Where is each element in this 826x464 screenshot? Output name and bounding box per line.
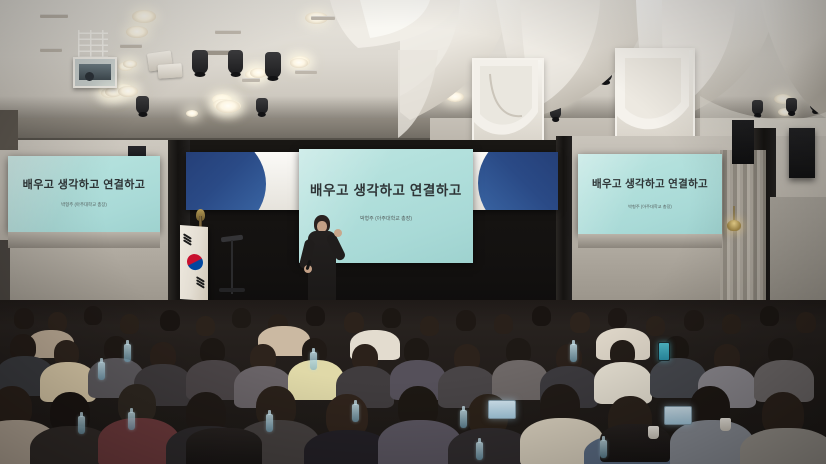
slide-title-right: 배우고 생각하고 연결하고 <box>578 176 722 191</box>
ceiling-vent <box>120 44 142 48</box>
audience-head <box>84 306 102 325</box>
round-banquet-table <box>186 428 262 464</box>
audience-head <box>760 306 779 326</box>
audience-head <box>684 310 704 331</box>
chandelier-lamp <box>727 220 741 231</box>
audience-head <box>344 312 364 333</box>
recessed-downlight <box>216 100 240 113</box>
water-bottle <box>476 442 483 460</box>
audience-head <box>646 316 665 336</box>
screen-skirt-left <box>8 232 160 248</box>
audience-head <box>796 312 816 333</box>
audience-head <box>532 306 551 326</box>
audience-head <box>306 306 325 326</box>
taeguk-circle <box>187 254 203 271</box>
audience-head <box>382 308 401 328</box>
water-bottle <box>352 404 359 422</box>
paper-cup <box>648 426 659 439</box>
slide-subtitle-left: 박형주 (아주대학교 총장) <box>8 202 160 208</box>
hanging-fabric-panel <box>615 48 695 144</box>
black-track-spotlight <box>265 52 281 78</box>
open-laptop <box>664 406 692 425</box>
audience-head <box>608 308 627 328</box>
conference-photo: 2019년 권 크숍 일자 : 2019년 7월 호텔 배우고 생각하고 연결하… <box>0 0 826 464</box>
ceiling-soffit <box>0 118 430 140</box>
recessed-downlight <box>118 86 138 97</box>
screen-skirt-right <box>578 234 722 248</box>
audience-head <box>570 312 590 333</box>
presenter-right-hand <box>334 229 342 237</box>
water-bottle <box>98 362 105 380</box>
projection-screen-right: 배우고 생각하고 연결하고 박형주 (아주대학교 총장) <box>578 154 722 234</box>
slide-subtitle-right: 박형주 (아주대학교 총장) <box>578 204 722 210</box>
recessed-downlight <box>186 110 198 117</box>
audience-head <box>456 310 476 331</box>
round-banquet-table <box>600 424 670 462</box>
recessed-downlight <box>132 10 156 23</box>
audience-head <box>14 308 34 329</box>
ceiling-vent <box>295 70 317 74</box>
pa-speaker-box <box>789 128 815 178</box>
audience-head <box>160 310 180 331</box>
music-stand-base <box>219 288 245 292</box>
music-stand-pole <box>231 240 233 294</box>
water-bottle <box>600 440 607 458</box>
ceiling-vent <box>40 48 62 52</box>
open-laptop <box>488 400 516 419</box>
black-track-spotlight <box>136 96 149 114</box>
audience-shoulders <box>740 428 826 464</box>
water-bottle <box>78 416 85 434</box>
audience-head <box>232 308 251 328</box>
pa-speaker-box <box>732 120 754 164</box>
wall-column <box>0 110 18 150</box>
presenter-standing <box>300 215 344 301</box>
ceiling-projector-cage <box>73 57 117 88</box>
south-korean-flag-taegukgi <box>180 225 208 301</box>
audience-head <box>196 316 215 336</box>
ceiling-sensor-plate <box>158 63 183 79</box>
audience-head <box>420 316 439 336</box>
projector-lens <box>85 72 94 81</box>
black-track-spotlight <box>228 50 243 74</box>
white-fabric-drape <box>398 50 518 150</box>
audience-head <box>494 314 513 334</box>
slide-title-center: 배우고 생각하고 연결하고 <box>299 179 473 199</box>
recessed-downlight <box>123 60 137 68</box>
black-track-spotlight <box>192 50 208 74</box>
projector-truss <box>78 30 108 58</box>
audience-head <box>48 312 67 332</box>
slide-title-left: 배우고 생각하고 연결하고 <box>8 176 160 192</box>
ceiling-vent <box>40 14 68 18</box>
ceiling-vent <box>242 78 260 82</box>
water-bottle <box>266 414 273 432</box>
water-bottle <box>124 344 131 362</box>
water-bottle <box>128 412 135 430</box>
projection-screen-left: 배우고 생각하고 연결하고 박형주 (아주대학교 총장) <box>8 156 160 232</box>
water-bottle <box>460 410 467 428</box>
wall-chandelier <box>727 206 741 232</box>
water-bottle <box>310 352 317 370</box>
seated-audience-rear-view <box>0 300 826 464</box>
audience-head <box>120 314 139 334</box>
ceiling-vent <box>215 30 241 34</box>
recessed-downlight <box>126 26 148 38</box>
paper-cup <box>720 418 731 431</box>
black-track-spotlight <box>256 98 268 114</box>
smartphone-recording <box>658 342 670 361</box>
water-bottle <box>570 344 577 362</box>
audience-head <box>722 314 741 334</box>
projector-body <box>79 64 111 80</box>
